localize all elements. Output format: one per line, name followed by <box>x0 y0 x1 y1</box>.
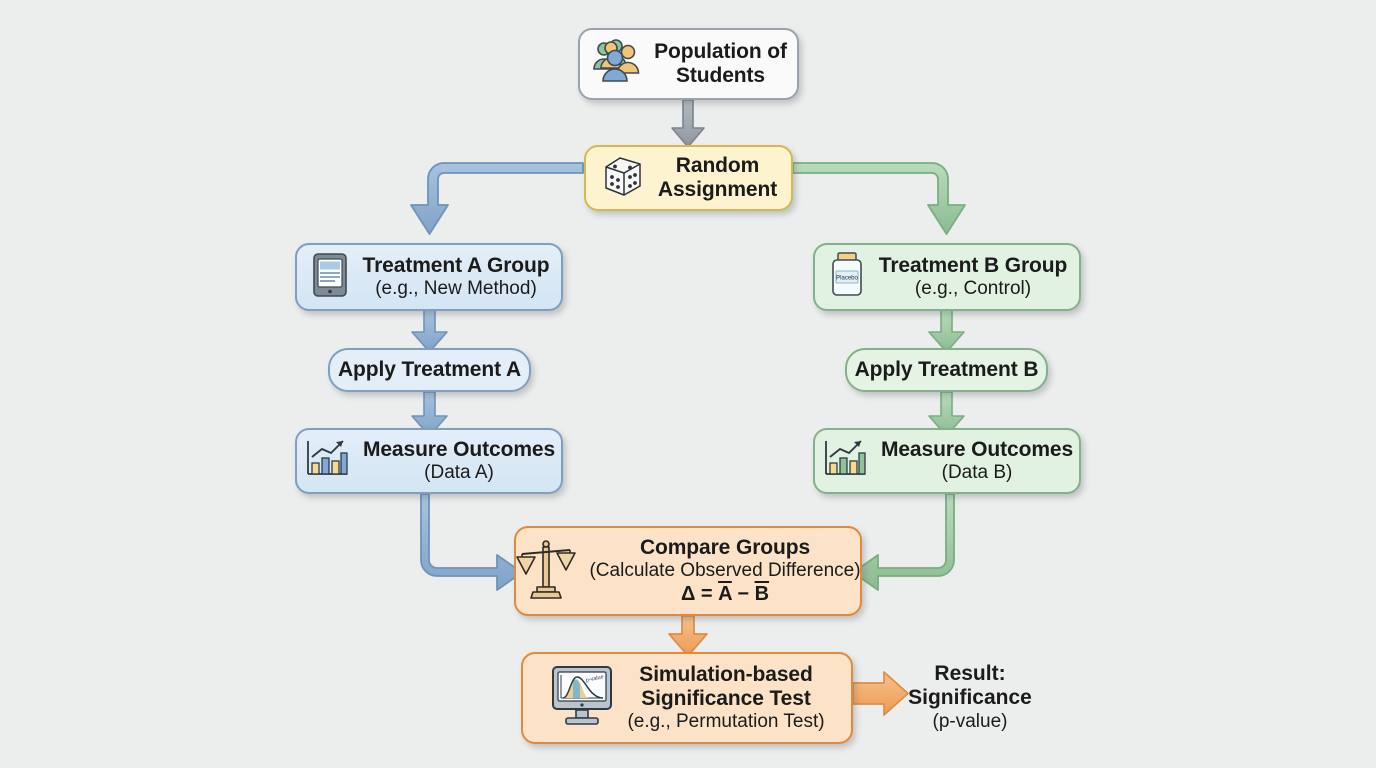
flowchart-canvas: Population of Students <box>0 0 1376 768</box>
node-treatment-a-group[interactable]: Treatment A Group (e.g., New Method) <box>295 243 563 311</box>
node-random-assignment[interactable]: Random Assignment <box>584 145 793 211</box>
formula-operator: − <box>732 583 755 605</box>
measure-outcomes-b-label: Measure Outcomes (Data B) <box>881 438 1073 484</box>
formula-mean-a: A <box>718 583 732 605</box>
bar-chart-trend-icon <box>821 437 869 486</box>
dice-icon <box>600 153 646 204</box>
bar-chart-trend-icon <box>303 437 351 486</box>
connector-treatment-b-to-apply-b <box>929 310 964 352</box>
monitor-pvalue-curve-icon: p-value <box>549 663 615 734</box>
connector-random-to-treatment-b <box>793 163 965 234</box>
node-significance-test[interactable]: p-value Simulation-based Significance Te… <box>521 652 853 744</box>
measure-outcomes-a-label: Measure Outcomes (Data A) <box>363 438 555 484</box>
significance-test-label: Simulation-based Significance Test (e.g.… <box>627 663 824 733</box>
balance-scales-icon <box>515 537 577 606</box>
apply-treatment-b-label: Apply Treatment B <box>855 358 1039 382</box>
node-apply-treatment-a[interactable]: Apply Treatment A <box>328 348 531 392</box>
placebo-bottle-text: Placebo <box>836 275 858 281</box>
node-compare-groups[interactable]: Compare Groups (Calculate Observed Diffe… <box>514 526 862 616</box>
treatment-b-group-label: Treatment B Group (e.g., Control) <box>879 254 1068 300</box>
node-apply-treatment-b[interactable]: Apply Treatment B <box>845 348 1048 392</box>
random-assignment-label: Random Assignment <box>658 154 777 202</box>
compare-groups-label: Compare Groups (Calculate Observed Diffe… <box>589 536 860 605</box>
result-significance-label: Result: Significance (p-value) <box>880 662 1060 733</box>
formula-mean-b: B <box>755 583 769 605</box>
connector-random-to-treatment-a-shape <box>411 163 583 234</box>
formula-delta: Δ = <box>681 583 718 605</box>
node-measure-outcomes-b[interactable]: Measure Outcomes (Data B) <box>813 428 1081 494</box>
observed-difference-formula: Δ = A − B <box>589 583 860 606</box>
node-population-of-students[interactable]: Population of Students <box>578 28 799 100</box>
connector-population-to-random <box>672 100 704 147</box>
treatment-a-group-label: Treatment A Group (e.g., New Method) <box>363 254 550 300</box>
apply-treatment-a-label: Apply Treatment A <box>338 358 521 382</box>
connector-measure-b-to-compare <box>853 494 954 590</box>
connector-treatment-a-to-apply-a <box>412 310 447 352</box>
node-treatment-b-group[interactable]: Placebo Treatment B Group (e.g., Control… <box>813 243 1081 311</box>
connector-compare-to-test <box>669 616 707 656</box>
population-label: Population of Students <box>654 40 787 88</box>
connector-random-to-treatment-a <box>412 165 583 233</box>
tablet-document-icon <box>309 251 351 304</box>
placebo-bottle-icon: Placebo <box>827 250 867 305</box>
connector-measure-a-to-compare <box>421 494 522 590</box>
people-group-icon <box>590 39 642 90</box>
node-measure-outcomes-a[interactable]: Measure Outcomes (Data A) <box>295 428 563 494</box>
